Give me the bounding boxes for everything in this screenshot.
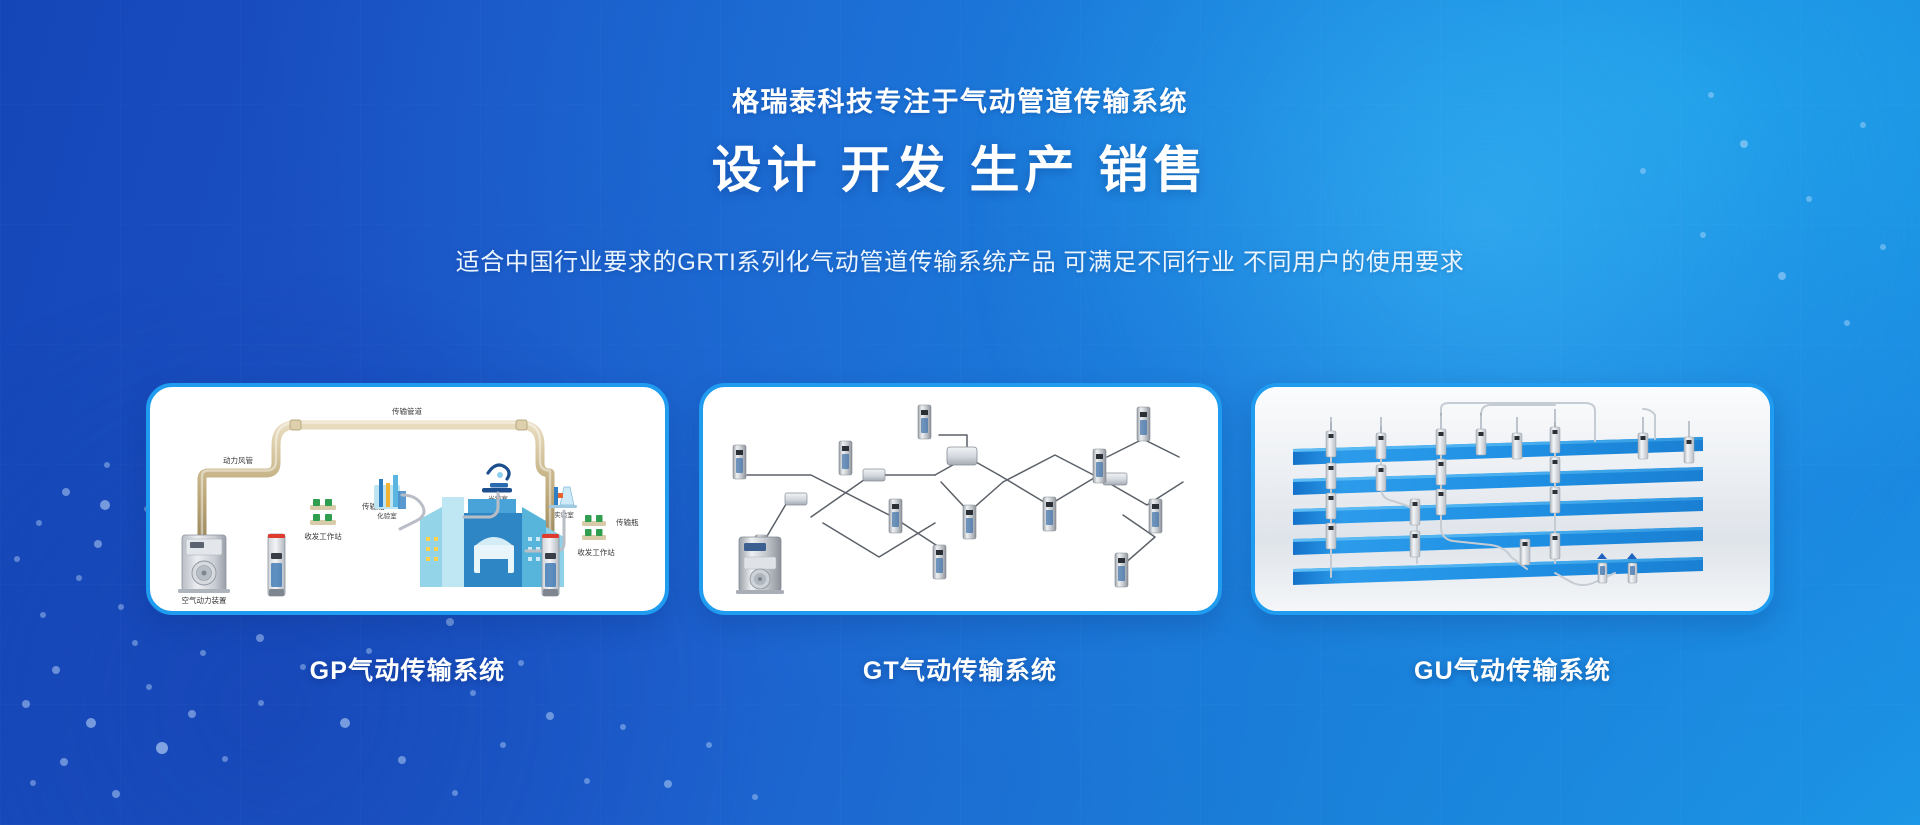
particle-dot xyxy=(14,556,20,562)
particle-dot xyxy=(188,710,196,718)
gp-label-lab-chem: 化验室 xyxy=(377,511,397,520)
particle-dot xyxy=(500,742,506,748)
gp-station-left xyxy=(268,534,285,596)
particle-dot xyxy=(118,604,124,610)
particle-dot xyxy=(40,612,46,618)
product-card-gu[interactable]: GU气动传输系统 xyxy=(1251,383,1774,687)
gp-label-blower: 空气动力装置 xyxy=(182,595,227,605)
particle-dot xyxy=(104,462,110,468)
gt-blower xyxy=(736,537,784,594)
particle-dot xyxy=(258,700,264,706)
gp-blower xyxy=(178,535,230,593)
gp-lab-chem xyxy=(374,475,406,509)
particle-dot xyxy=(584,778,590,784)
card-image-gt[interactable] xyxy=(699,383,1222,615)
gp-carrier-right xyxy=(582,515,606,540)
gp-carrier-left xyxy=(310,499,336,525)
particle-dot xyxy=(30,780,36,786)
particle-dot xyxy=(76,575,82,581)
gp-diagram: 传输管道 动力风管 空气动力装置 xyxy=(150,387,665,611)
product-card-gt[interactable]: GT气动传输系统 xyxy=(699,383,1222,687)
promo-banner: 格瑞泰科技专注于气动管道传输系统 设计 开发 生产 销售 适合中国行业要求的GR… xyxy=(0,0,1920,825)
particle-dot xyxy=(112,790,120,798)
particle-dot xyxy=(62,488,70,496)
particle-dot xyxy=(156,742,168,754)
card-image-gu[interactable] xyxy=(1251,383,1774,615)
gp-label-station-left: 收发工作站 xyxy=(304,531,342,541)
particle-dot xyxy=(470,690,476,696)
product-card-gp[interactable]: 传输管道 动力风管 空气动力装置 xyxy=(146,383,669,687)
card-caption-gu: GU气动传输系统 xyxy=(1414,651,1611,687)
headline-block: 格瑞泰科技专注于气动管道传输系统 设计 开发 生产 销售 适合中国行业要求的GR… xyxy=(0,86,1920,279)
product-card-list: 传输管道 动力风管 空气动力装置 xyxy=(146,383,1774,687)
particle-dot xyxy=(22,700,30,708)
particle-dot xyxy=(706,742,712,748)
particle-dot xyxy=(546,712,554,720)
particle-dot xyxy=(752,794,758,800)
particle-dot xyxy=(60,758,68,766)
particle-dot xyxy=(52,666,60,674)
gp-lab-spectro xyxy=(482,465,512,493)
gt-diagram xyxy=(703,387,1218,611)
card-caption-gt: GT气动传输系统 xyxy=(863,651,1057,687)
particle-dot xyxy=(664,780,672,788)
particle-dot xyxy=(620,724,626,730)
card-image-gp[interactable]: 传输管道 动力风管 空气动力装置 xyxy=(146,383,669,615)
gp-label-station-right: 收发工作站 xyxy=(577,547,615,557)
particle-dot xyxy=(1844,320,1850,326)
particle-dot xyxy=(86,718,96,728)
particle-dot xyxy=(222,756,228,762)
particle-dot xyxy=(340,718,350,728)
gp-label-pipe: 传输管道 xyxy=(392,406,422,416)
gp-station-right xyxy=(542,534,559,596)
particle-dot xyxy=(100,500,110,510)
gp-label-power-duct: 动力风管 xyxy=(223,455,253,465)
card-caption-gp: GP气动传输系统 xyxy=(310,651,506,687)
gt-diverter xyxy=(785,447,1127,505)
particle-dot xyxy=(94,540,102,548)
particle-dot xyxy=(452,790,458,796)
particle-dot xyxy=(132,640,138,646)
eyebrow-text: 格瑞泰科技专注于气动管道传输系统 xyxy=(0,86,1920,118)
gu-diagram xyxy=(1255,387,1770,611)
gp-label-carrier-right: 传输瓶 xyxy=(616,517,639,527)
particle-dot xyxy=(398,756,406,764)
page-title: 设计 开发 生产 销售 xyxy=(0,142,1920,200)
subtitle-text: 适合中国行业要求的GRTI系列化气动管道传输系统产品 可满足不同行业 不同用户的… xyxy=(0,247,1920,279)
particle-dot xyxy=(36,520,42,526)
